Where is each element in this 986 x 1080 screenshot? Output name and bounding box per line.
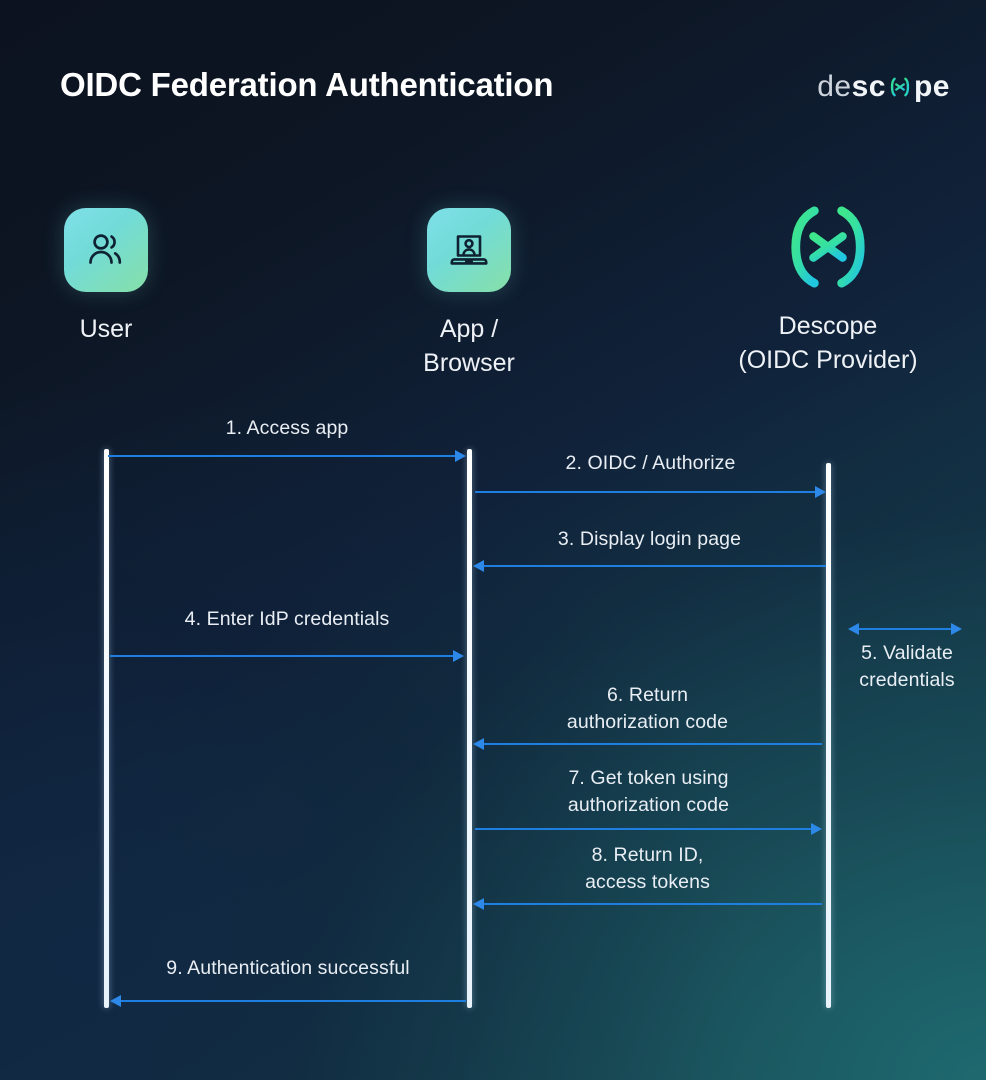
message-arrowhead-2 <box>815 486 826 498</box>
message-label-8: 8. Return ID, access tokens <box>473 842 822 896</box>
message-arrowhead-6 <box>473 738 484 750</box>
message-line-7 <box>475 828 812 830</box>
actor-label-user: User <box>6 312 206 346</box>
users-icon <box>82 226 130 274</box>
message-label-7: 7. Get token using authorization code <box>475 765 822 819</box>
message-label-5: 5. Validate credentials <box>836 640 978 694</box>
actor-label-descope: Descope (OIDC Provider) <box>718 309 938 377</box>
message-label-6: 6. Return authorization code <box>473 682 822 736</box>
lifeline-descope <box>826 463 831 1008</box>
descope-o-mark-icon <box>887 74 913 100</box>
lifeline-user <box>104 449 109 1008</box>
message-line-2 <box>475 491 816 493</box>
message-line-4 <box>110 655 454 657</box>
message-arrowhead-3 <box>473 560 484 572</box>
message-arrowhead-8 <box>473 898 484 910</box>
descope-logo: de sc pe <box>817 70 950 104</box>
message-label-2: 2. OIDC / Authorize <box>475 450 826 477</box>
message-label-4: 4. Enter IdP credentials <box>110 606 464 633</box>
actor-app-browser: App / Browser <box>369 208 569 380</box>
message-arrowhead-9 <box>110 995 121 1007</box>
descope-brackets-icon <box>786 202 870 292</box>
actor-label-app-browser: App / Browser <box>369 312 569 380</box>
page-title: OIDC Federation Authentication <box>60 66 553 104</box>
actor-user: User <box>6 208 206 346</box>
message-line-8 <box>484 903 822 905</box>
message-line-3 <box>484 565 826 567</box>
message-arrowhead-5-left <box>848 623 859 635</box>
message-arrowhead-4 <box>453 650 464 662</box>
message-line-6 <box>484 743 822 745</box>
logo-text-sc: sc <box>852 70 886 104</box>
message-line-1 <box>108 455 456 457</box>
lifeline-app-browser <box>467 449 472 1008</box>
message-arrowhead-1 <box>455 450 466 462</box>
message-label-9: 9. Authentication successful <box>110 955 466 982</box>
message-label-1: 1. Access app <box>108 415 466 442</box>
message-label-3: 3. Display login page <box>473 526 826 553</box>
logo-text-pe: pe <box>914 70 950 104</box>
message-line-5 <box>859 628 951 630</box>
logo-text-de: de <box>817 70 851 104</box>
laptop-person-icon <box>445 226 493 274</box>
message-arrowhead-5-right <box>951 623 962 635</box>
laptop-person-icon-tile <box>427 208 511 292</box>
message-arrowhead-7 <box>811 823 822 835</box>
actor-descope: Descope (OIDC Provider) <box>718 205 938 377</box>
users-icon-tile <box>64 208 148 292</box>
descope-brackets-icon-wrap <box>786 205 870 289</box>
message-line-9 <box>121 1000 466 1002</box>
diagram-canvas: OIDC Federation Authentication de sc <box>0 0 986 1080</box>
